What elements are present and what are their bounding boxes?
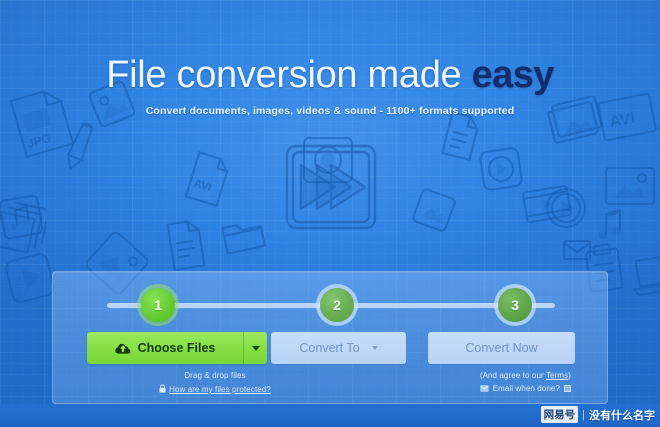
- envelope-icon: [560, 236, 594, 264]
- step-number: 1: [154, 297, 162, 313]
- page-title-plain: File conversion made: [106, 54, 471, 96]
- layers-icon: [0, 196, 46, 264]
- step-indicator-1[interactable]: 1: [141, 288, 175, 322]
- chevron-down-icon: [252, 346, 260, 351]
- page-subtitle: Convert documents, images, videos & soun…: [0, 105, 660, 117]
- drag-drop-hint: Drag & drop files: [125, 371, 305, 380]
- watermark-separator: |: [582, 409, 585, 421]
- watermark: 网易号 | 没有什么名字: [541, 406, 655, 423]
- choose-files-group: Choose Files: [87, 332, 267, 364]
- watermark-badge: 网易号: [541, 406, 579, 423]
- convert-now-label: Convert Now: [465, 341, 537, 355]
- choose-files-dropdown-toggle[interactable]: [243, 332, 267, 364]
- svg-text:JPG: JPG: [26, 131, 53, 151]
- step-indicator-2[interactable]: 2: [320, 288, 354, 322]
- files-protected-label: How are my files protected?: [169, 385, 271, 394]
- terms-suffix: ): [568, 371, 571, 380]
- chevron-down-icon: [372, 346, 378, 350]
- document-icon: [163, 216, 209, 274]
- convert-to-dropdown[interactable]: Convert To: [271, 332, 406, 364]
- folder-icon: [218, 212, 268, 256]
- terms-link[interactable]: Terms: [546, 371, 568, 380]
- cloud-upload-icon: [115, 342, 131, 355]
- step-indicator-3[interactable]: 3: [498, 288, 532, 322]
- lock-icon: [159, 384, 166, 393]
- email-when-done-label: Email when done?: [493, 384, 560, 393]
- action-row: Choose Files Convert To Convert Now: [53, 332, 607, 364]
- play-circle-icon: [540, 182, 592, 234]
- avi-file-icon: AVI: [184, 150, 232, 208]
- laptop-icon: [628, 250, 660, 298]
- document-icon: [440, 110, 482, 162]
- page-title: File conversion made easy: [0, 56, 660, 96]
- choose-files-button[interactable]: Choose Files: [87, 332, 243, 364]
- conversion-panel: 1 2 3 Choose Files Convert To: [52, 271, 608, 404]
- email-when-done-checkbox[interactable]: [564, 385, 571, 392]
- terms-prefix: (And agree to our: [480, 371, 546, 380]
- convert-now-button[interactable]: Convert Now: [428, 332, 575, 364]
- watermark-name: 没有什么名字: [589, 407, 655, 423]
- stepper: 1 2 3: [53, 288, 607, 322]
- hero-section: File conversion made easy Convert docume…: [0, 56, 660, 117]
- files-protected-link[interactable]: How are my files protected?: [125, 384, 305, 394]
- step-number: 2: [333, 297, 341, 313]
- email-when-done-option[interactable]: Email when done?: [480, 384, 571, 393]
- step-number: 3: [511, 297, 519, 313]
- envelope-icon: [480, 385, 489, 392]
- play-button-icon: [476, 144, 526, 194]
- image-mountain-icon: [412, 188, 456, 232]
- page-title-accent: easy: [472, 54, 554, 96]
- convert-to-label: Convert To: [299, 341, 359, 355]
- choose-files-label: Choose Files: [138, 341, 216, 355]
- fast-forward-sketch-icon: [281, 141, 381, 233]
- terms-agreement: (And agree to our Terms): [480, 371, 571, 380]
- svg-text:AVI: AVI: [192, 177, 212, 194]
- micro-text-row: Drag & drop files How are my files prote…: [53, 371, 607, 401]
